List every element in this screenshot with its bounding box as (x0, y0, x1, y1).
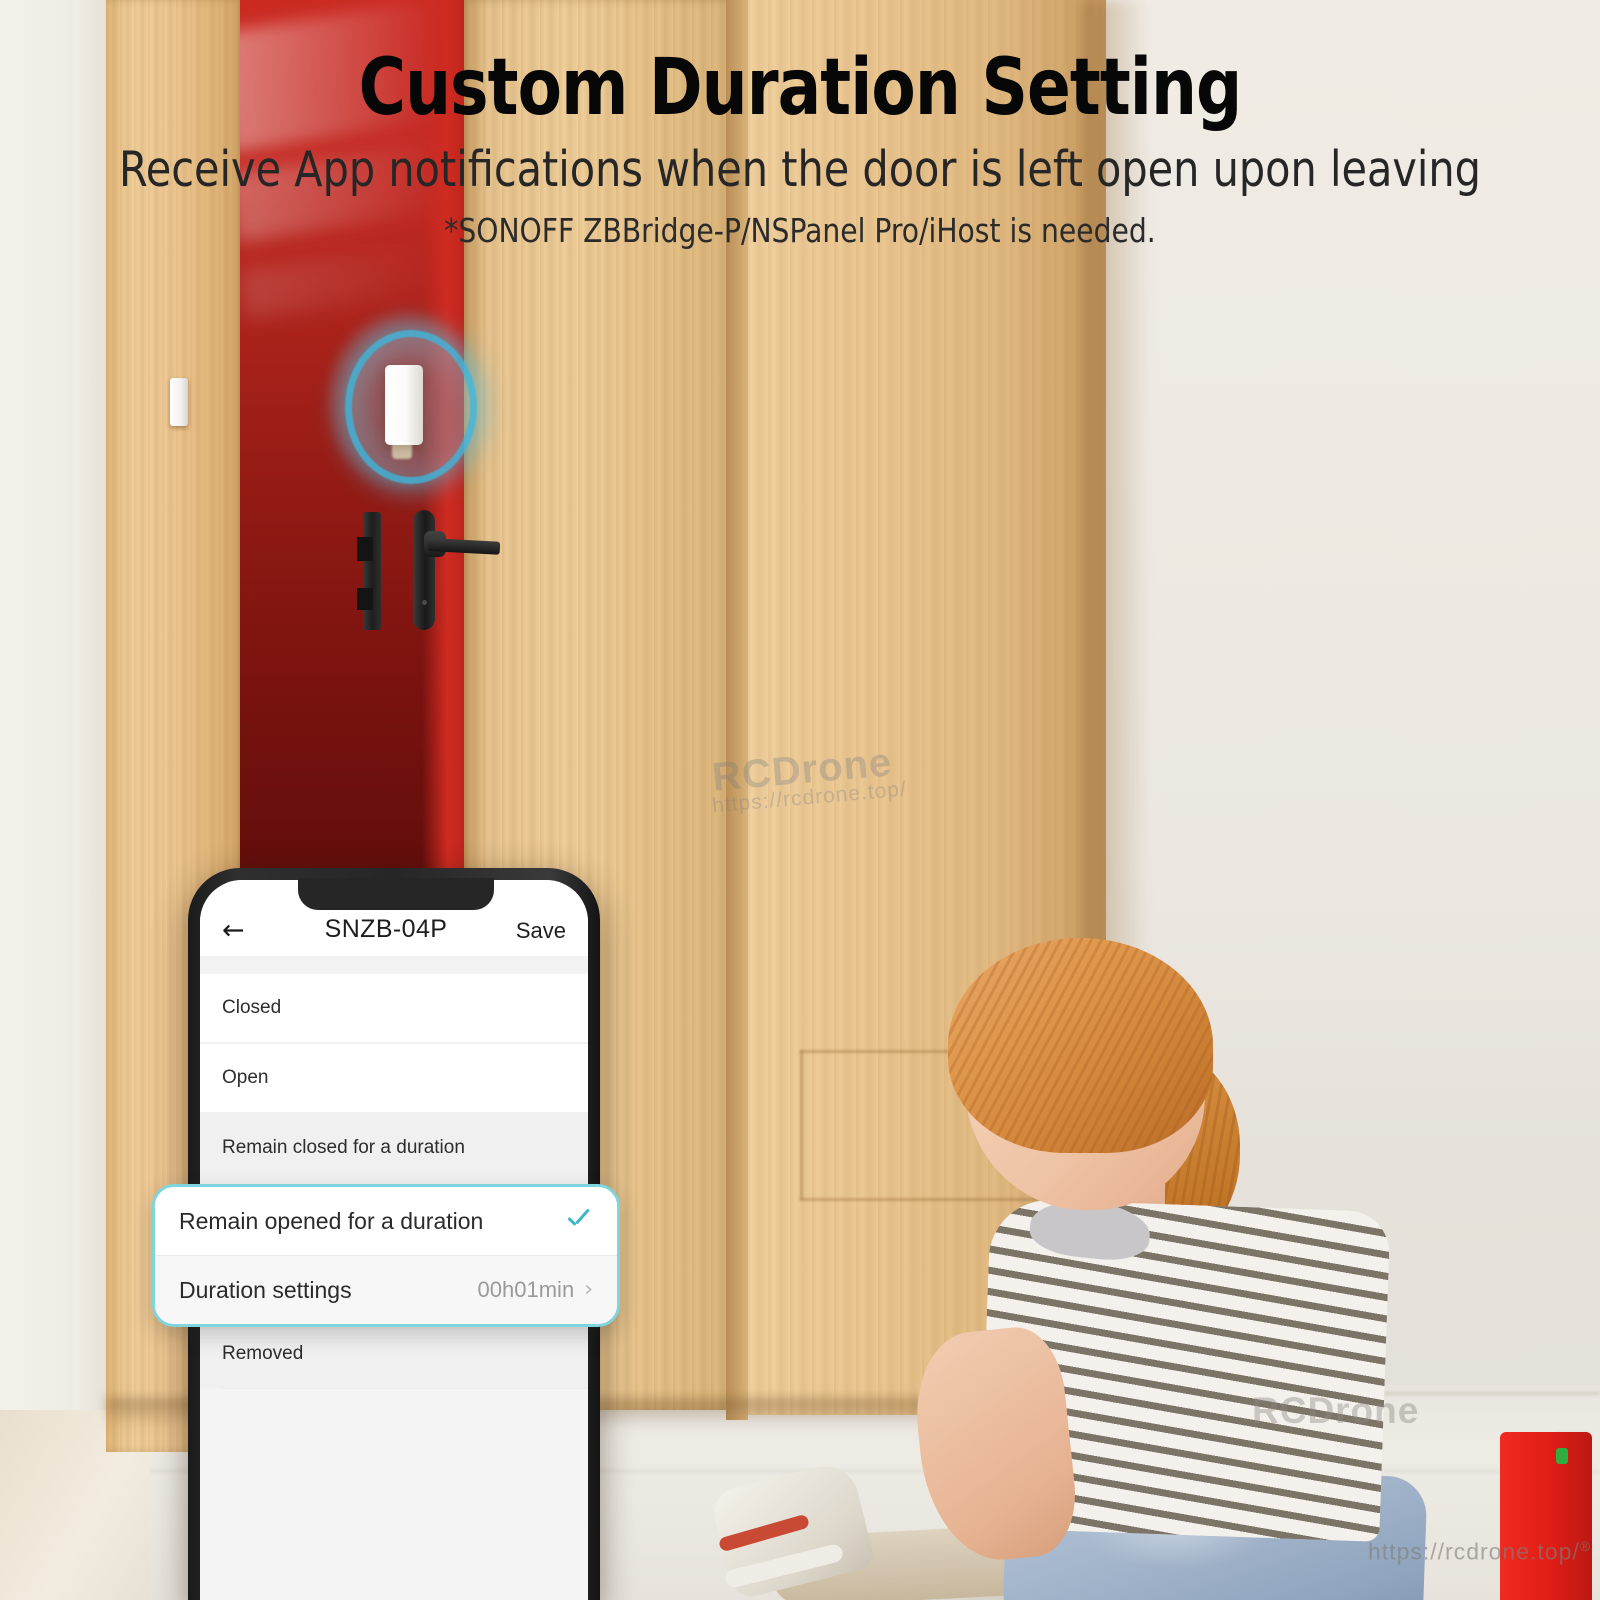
check-icon (563, 1206, 593, 1236)
door-handle-screw (422, 600, 427, 605)
door-magnet (170, 378, 188, 426)
red-toy-block (1500, 1432, 1592, 1600)
list-item-label: Removed (222, 1343, 303, 1365)
save-button[interactable]: Save (490, 918, 566, 944)
chevron-right-icon: › (584, 1279, 593, 1301)
watermark-url-bottom: https://rcdrone.top/® (1368, 1538, 1591, 1566)
list-item-label: Open (222, 1067, 268, 1089)
duration-settings-label: Duration settings (179, 1277, 478, 1304)
highlighted-option-card: Remain opened for a duration Duration se… (152, 1184, 620, 1327)
page-subtitle: Receive App notifications when the door … (48, 130, 1552, 195)
list-top-spacer (200, 956, 588, 974)
door-sensor (385, 365, 423, 445)
list-item-closed[interactable]: Closed (200, 974, 588, 1042)
toddler-figure (930, 930, 1490, 1600)
door-lock-plate (363, 512, 381, 630)
header-block: Custom Duration Setting Receive App noti… (0, 0, 1600, 250)
door-handle-plate (413, 510, 435, 630)
duration-settings-row[interactable]: Duration settings 00h01min › (155, 1256, 617, 1324)
watermark-url-text: https://rcdrone.top/ (1368, 1539, 1580, 1565)
scene-root: Custom Duration Setting Receive App noti… (0, 0, 1600, 1600)
option-remain-opened[interactable]: Remain opened for a duration (155, 1187, 617, 1255)
toddler-hair (948, 938, 1213, 1153)
toy-green-detail (1556, 1448, 1568, 1464)
page-title: Custom Duration Setting (64, 0, 1536, 130)
list-item-removed[interactable]: Removed (200, 1320, 588, 1388)
list-item-open[interactable]: Open (200, 1044, 588, 1112)
door-lock-bolt-lower (357, 588, 373, 610)
list-item-label: Remain closed for a duration (222, 1137, 465, 1159)
watermark-brand-bottom: RCDrone (1252, 1390, 1419, 1432)
duration-settings-value: 00h01min (478, 1277, 575, 1303)
list-item-label: Closed (222, 997, 281, 1019)
door-panel-groove-left (800, 1050, 803, 1200)
list-empty-area (200, 1389, 588, 1600)
app-title: SNZB-04P (282, 915, 490, 944)
registered-mark-icon: ® (1580, 1538, 1591, 1554)
list-item-remain-closed[interactable]: Remain closed for a duration (200, 1114, 588, 1182)
door-lock-bolt-upper (357, 537, 373, 561)
page-footnote: *SONOFF ZBBridge-P/NSPanel Pro/iHost is … (40, 195, 1560, 250)
phone-notch (298, 878, 494, 910)
option-label: Remain opened for a duration (179, 1208, 563, 1235)
back-arrow-icon[interactable]: ← (222, 917, 282, 944)
